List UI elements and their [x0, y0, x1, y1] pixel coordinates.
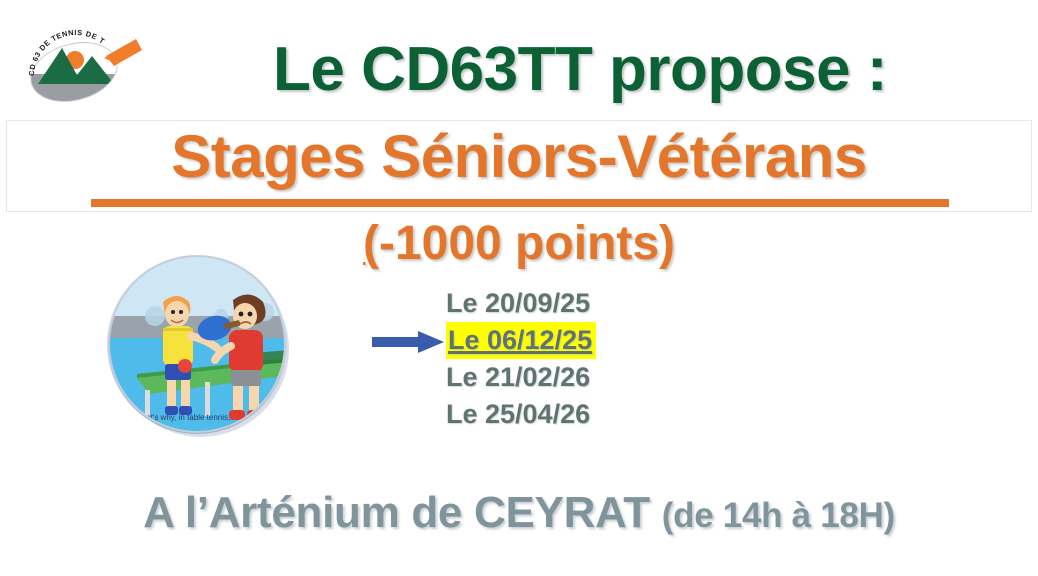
table-tennis-cartoon: And that's why, in table tennis, " the n…: [93, 254, 309, 439]
dates-list: Le 20/09/25 Le 06/12/25 Le 21/02/26 Le 2…: [430, 285, 730, 433]
points-text: -1000 points): [379, 217, 675, 270]
list-item[interactable]: Le 20/09/25: [430, 285, 730, 322]
arrow-right-icon: [372, 331, 444, 353]
venue-name: A l’Arténium de CEYRAT: [143, 488, 662, 537]
subtitle-text: Stages Séniors-Vétérans: [0, 122, 1038, 191]
points-open-paren: (: [363, 217, 379, 270]
cartoon-caption-line-2: " the net.": [123, 423, 158, 432]
venue-line: A l’Arténium de CEYRAT (de 14h à 18H): [0, 488, 1038, 538]
list-item[interactable]: Le 25/04/26: [430, 396, 730, 433]
poster-canvas: CD 63 DE TENNIS DE TABLE Le CD63TT propo…: [0, 0, 1038, 576]
date-label: Le 20/09/25: [446, 285, 590, 322]
cd63tt-logo: CD 63 DE TENNIS DE TABLE: [18, 22, 150, 108]
date-label: Le 25/04/26: [446, 396, 590, 433]
venue-hours: (de 14h à 18H): [662, 496, 895, 535]
page-title: Le CD63TT propose :: [150, 26, 1010, 112]
cartoon-caption-line-1: And that's why, in table tennis,: [123, 413, 230, 422]
date-label: Le 21/02/26: [446, 359, 590, 396]
date-label-highlighted: Le 06/12/25: [446, 322, 596, 359]
list-item-selected[interactable]: Le 06/12/25: [430, 322, 730, 359]
list-item[interactable]: Le 21/02/26: [430, 359, 730, 396]
subtitle-underline-rule: [91, 199, 949, 207]
